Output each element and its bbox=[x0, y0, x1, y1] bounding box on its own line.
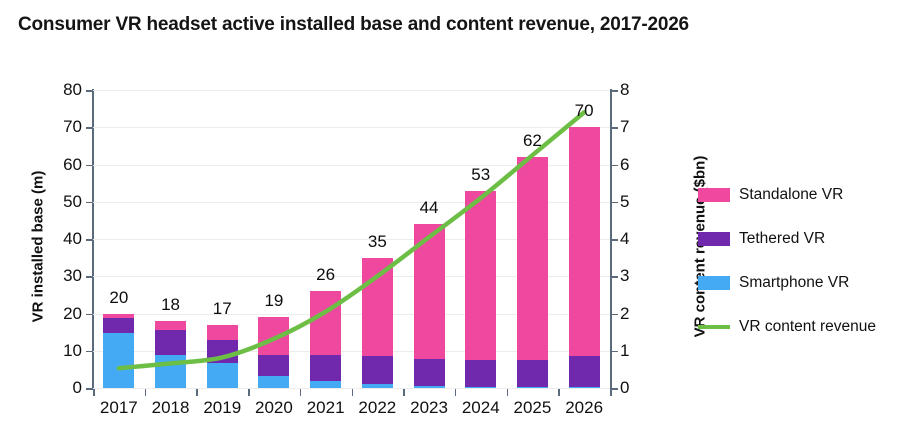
x-axis-label: 2019 bbox=[194, 398, 250, 418]
x-axis-label: 2017 bbox=[91, 398, 147, 418]
x-axis-label: 2024 bbox=[453, 398, 509, 418]
right-tick-label: 0 bbox=[620, 378, 650, 398]
right-tick-mark bbox=[611, 314, 618, 316]
legend-label: Standalone VR bbox=[739, 186, 843, 204]
x-axis-label: 2022 bbox=[349, 398, 405, 418]
x-tick-mark bbox=[352, 388, 354, 396]
legend-label: Smartphone VR bbox=[739, 274, 849, 292]
x-axis-label: 2018 bbox=[143, 398, 199, 418]
right-tick-mark bbox=[611, 202, 618, 204]
right-tick-label: 3 bbox=[620, 266, 650, 286]
bar-total-label: 26 bbox=[296, 265, 356, 285]
legend-label: Tethered VR bbox=[739, 230, 825, 248]
right-tick-mark bbox=[611, 239, 618, 241]
bar-total-label: 70 bbox=[554, 101, 614, 121]
right-tick-mark bbox=[611, 165, 618, 167]
legend-item-tethered-vr[interactable]: Tethered VR bbox=[698, 217, 903, 261]
left-tick-label: 50 bbox=[12, 192, 92, 212]
legend-item-vr-content-revenue[interactable]: VR content revenue bbox=[698, 305, 903, 349]
legend-item-standalone-vr[interactable]: Standalone VR bbox=[698, 173, 903, 217]
gridline bbox=[93, 388, 610, 389]
right-tick-mark bbox=[611, 351, 618, 353]
right-tick-label: 2 bbox=[620, 304, 650, 324]
right-tick-mark bbox=[611, 388, 618, 390]
bar-total-label: 19 bbox=[244, 291, 304, 311]
right-tick-mark bbox=[611, 276, 618, 278]
x-tick-mark bbox=[455, 388, 457, 396]
right-tick-label: 7 bbox=[620, 117, 650, 137]
x-tick-mark bbox=[196, 388, 198, 396]
x-axis-label: 2026 bbox=[556, 398, 612, 418]
chart-legend: Standalone VRTethered VRSmartphone VRVR … bbox=[698, 173, 903, 349]
x-tick-mark bbox=[507, 388, 509, 396]
legend-swatch-icon bbox=[698, 188, 730, 202]
bar-total-label: 62 bbox=[502, 131, 562, 151]
x-tick-mark bbox=[93, 388, 95, 396]
left-tick-label: 60 bbox=[12, 155, 92, 175]
legend-label: VR content revenue bbox=[739, 318, 876, 336]
chart-container: Consumer VR headset active installed bas… bbox=[0, 0, 911, 434]
bar-total-label: 53 bbox=[451, 165, 511, 185]
left-tick-label: 0 bbox=[12, 378, 92, 398]
x-tick-mark bbox=[558, 388, 560, 396]
legend-swatch-icon bbox=[698, 276, 730, 290]
x-axis-label: 2025 bbox=[504, 398, 560, 418]
left-tick-label: 10 bbox=[12, 341, 92, 361]
x-axis-label: 2021 bbox=[298, 398, 354, 418]
x-tick-mark bbox=[248, 388, 250, 396]
left-tick-label: 70 bbox=[12, 117, 92, 137]
left-tick-label: 80 bbox=[12, 80, 92, 100]
bar-total-label: 44 bbox=[399, 198, 459, 218]
x-tick-mark bbox=[145, 388, 147, 396]
chart-title: Consumer VR headset active installed bas… bbox=[18, 14, 689, 36]
x-tick-mark bbox=[403, 388, 405, 396]
right-tick-label: 8 bbox=[620, 80, 650, 100]
right-tick-label: 5 bbox=[620, 192, 650, 212]
left-tick-label: 40 bbox=[12, 229, 92, 249]
legend-swatch-icon bbox=[698, 325, 730, 329]
legend-item-smartphone-vr[interactable]: Smartphone VR bbox=[698, 261, 903, 305]
x-tick-mark bbox=[300, 388, 302, 396]
right-tick-label: 1 bbox=[620, 341, 650, 361]
left-tick-label: 30 bbox=[12, 266, 92, 286]
right-tick-label: 6 bbox=[620, 155, 650, 175]
right-tick-label: 4 bbox=[620, 229, 650, 249]
legend-swatch-icon bbox=[698, 232, 730, 246]
x-axis-label: 2023 bbox=[401, 398, 457, 418]
left-tick-label: 20 bbox=[12, 304, 92, 324]
right-tick-mark bbox=[611, 90, 618, 92]
bar-total-label: 35 bbox=[347, 232, 407, 252]
x-axis-label: 2020 bbox=[246, 398, 302, 418]
right-tick-mark bbox=[611, 127, 618, 129]
x-tick-mark bbox=[610, 388, 612, 396]
